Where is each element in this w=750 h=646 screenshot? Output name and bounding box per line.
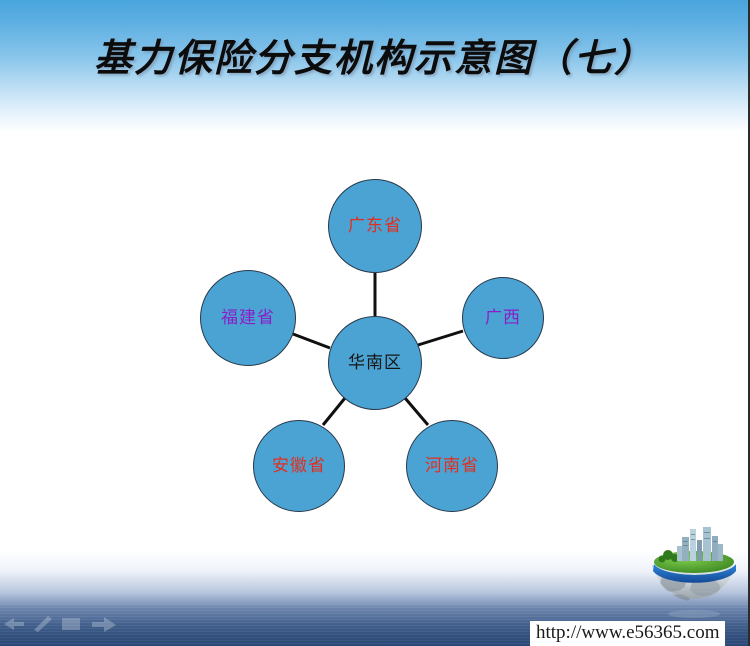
globe-reflection (668, 610, 720, 618)
center-node-label: 华南区 (348, 355, 402, 372)
node-anhui-label: 安徽省 (272, 458, 326, 475)
connector-center-fujian (293, 334, 330, 348)
node-guangxi[interactable]: 广西 (462, 277, 544, 359)
connector-center-guangxi (418, 331, 463, 345)
connector-center-anhui (323, 398, 345, 425)
node-fujian[interactable]: 福建省 (200, 270, 296, 366)
node-henan-label: 河南省 (425, 458, 479, 475)
node-fujian-label: 福建省 (221, 310, 275, 327)
node-henan[interactable]: 河南省 (406, 420, 498, 512)
watermark-url: http://www.e56365.com (530, 621, 725, 646)
globe-buildings (677, 527, 723, 561)
node-guangdong[interactable]: 广东省 (328, 179, 422, 273)
connector-center-henan (405, 398, 428, 425)
node-guangxi-label: 广西 (485, 310, 521, 327)
slide-canvas: 基力保险分支机构示意图（七） 广东省 广西 河南省 安徽省 福建省 华南区 (0, 0, 750, 646)
earth-city-globe-logo (648, 524, 740, 620)
center-node-huanan[interactable]: 华南区 (328, 316, 422, 410)
node-anhui[interactable]: 安徽省 (253, 420, 345, 512)
node-guangdong-label: 广东省 (348, 218, 402, 235)
